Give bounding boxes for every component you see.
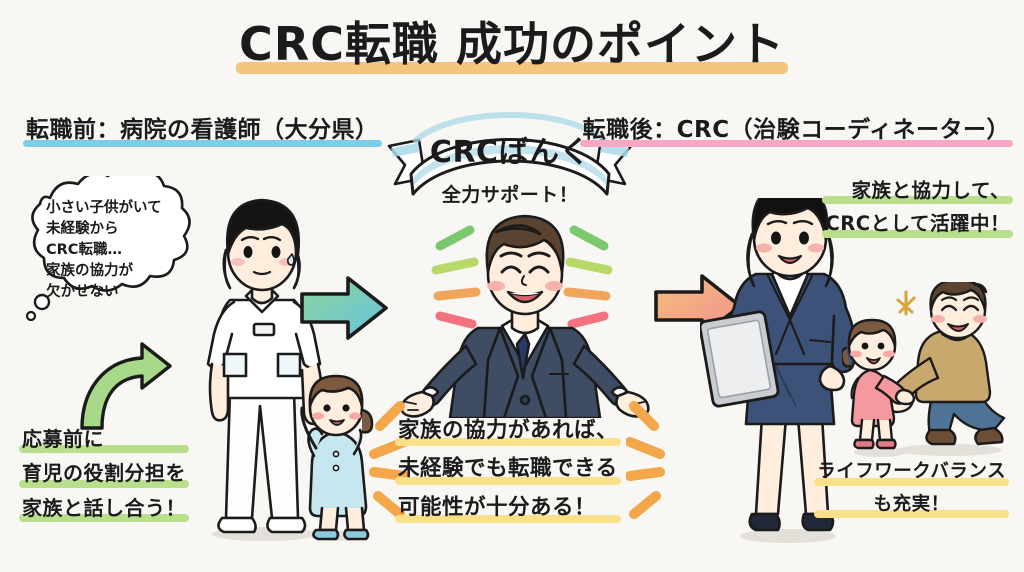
bubble-line: CRC転職… — [46, 240, 196, 261]
heading-after-text: 転職後：CRC（治験コーディネーター） — [583, 117, 1010, 143]
note-right-top-line: 家族と協力して、 — [825, 176, 1010, 205]
center-message-rays-right-icon — [626, 398, 676, 534]
banner-title: CRCばんく — [385, 134, 635, 172]
note-right-bottom-line: も充実！ — [817, 491, 1006, 520]
note-left-bottom: 応募前に 育児の役割分担を 家族と話し合う！ — [22, 424, 186, 527]
infographic-canvas: CRC転職 成功のポイント 転職前：病院の看護師（大分県） 転職後：CRC（治験… — [0, 0, 1024, 572]
heading-before-text: 転職前：病院の看護師（大分県） — [26, 117, 379, 143]
bubble-line: 小さい子供がいて — [46, 198, 196, 219]
figure-male-consultant — [400, 206, 650, 418]
thought-bubble-text: 小さい子供がいて 未経験から CRC転職… 家族の協力が 欠かせない — [46, 198, 196, 303]
arrow-left-to-center-icon — [296, 272, 392, 344]
center-message-line: 可能性が十分ある！ — [398, 491, 618, 524]
title-highlight: CRC転職 成功のポイント — [239, 16, 785, 74]
note-right-top-line: CRCとして活躍中！ — [825, 209, 1010, 238]
center-message-line: 家族の協力があれば、 — [398, 414, 618, 447]
green-curved-arrow-icon — [58, 330, 178, 438]
message-center-bottom: 家族の協力があれば、 未経験でも転職できる 可能性が十分ある！ — [398, 414, 618, 529]
note-left-line: 育児の役割分担を — [22, 458, 186, 488]
heading-before-highlight: 転職前：病院の看護師（大分県） — [26, 116, 379, 145]
title-text: CRC転職 成功のポイント — [239, 17, 785, 71]
thought-bubble: 小さい子供がいて 未経験から CRC転職… 家族の協力が 欠かせない — [20, 176, 210, 316]
page-title: CRC転職 成功のポイント — [0, 16, 1024, 74]
bubble-line: 家族の協力が — [46, 261, 196, 282]
banner-subtitle: 全力サポート！ — [385, 184, 635, 208]
heading-after-highlight: 転職後：CRC（治験コーディネーター） — [583, 116, 1010, 145]
heading-before: 転職前：病院の看護師（大分県） — [26, 116, 379, 145]
note-left-line: 家族と話し合う！ — [22, 493, 186, 523]
bubble-line: 欠かせない — [46, 282, 196, 303]
heading-after: 転職後：CRC（治験コーディネーター） — [583, 116, 1010, 145]
figure-nurse-with-child — [186, 196, 386, 544]
note-right-bottom-line: ライフワークバランス — [817, 458, 1006, 487]
note-right-bottom: ライフワークバランス も充実！ — [817, 458, 1006, 523]
note-right-top: 家族と協力して、 CRCとして活躍中！ — [825, 176, 1010, 243]
figure-father-with-daughter — [842, 282, 1024, 458]
bubble-line: 未経験から — [46, 219, 196, 240]
center-message-line: 未経験でも転職できる — [398, 452, 618, 485]
note-left-line: 応募前に — [22, 424, 186, 454]
